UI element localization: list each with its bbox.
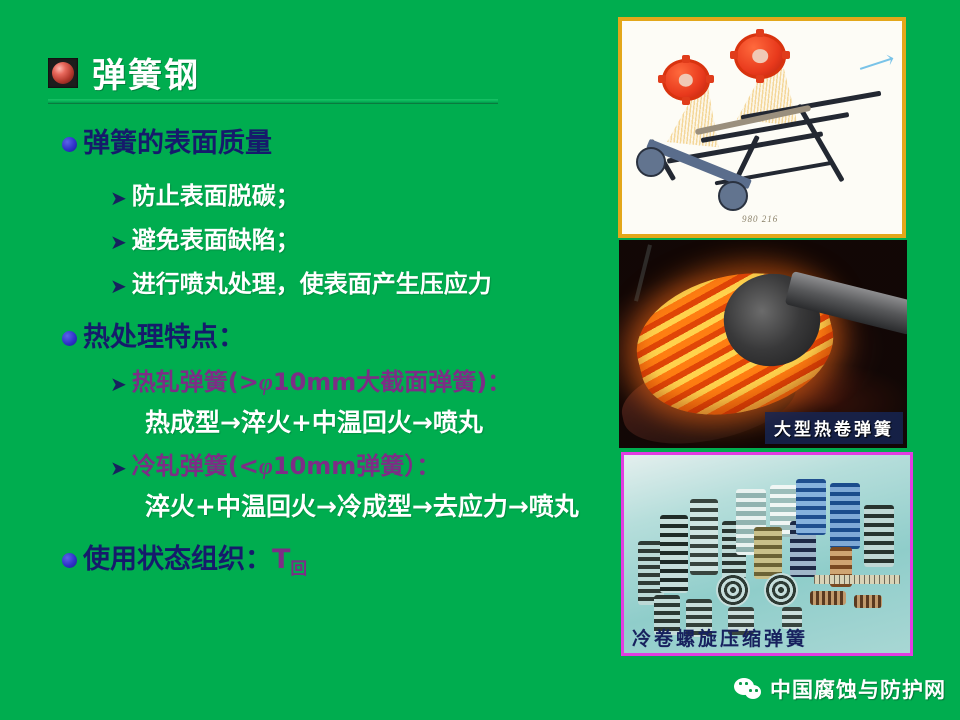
spring-item (716, 573, 750, 607)
list-item-label: 热轧弹簧(>φ10mm大截面弹簧)： (132, 368, 512, 398)
arrow-bullet-icon: ➤ (110, 185, 127, 212)
spring-item (810, 591, 846, 605)
label-pre: 冷轧弹簧(< (132, 452, 259, 480)
label-colon: ： (416, 452, 440, 480)
temper-symbol: T (272, 544, 290, 575)
slide-title-row: 弹簧钢 (48, 48, 200, 97)
blue-dot-bullet-icon (62, 137, 77, 152)
heading-text: 热处理特点： (83, 322, 245, 354)
drive-roller-right (718, 181, 748, 211)
spring-item (660, 515, 688, 593)
arrow-bullet-icon: ➤ (110, 455, 127, 482)
list-item-label: 避免表面缺陷； (132, 226, 300, 255)
blast-wheel-left (662, 59, 710, 101)
process-flow-cold: 淬火+中温回火→冷成型→去应力→喷丸 (145, 492, 610, 522)
arrow-bullet-icon: ➤ (110, 371, 127, 398)
spring-item (754, 527, 782, 579)
wechat-icon (734, 677, 763, 701)
spring-item (864, 505, 894, 567)
list-item-cold-rolled: ➤ 冷轧弹簧(<φ10mm弹簧）： (110, 452, 610, 482)
blast-wheel-right (734, 33, 786, 79)
watermark: 中国腐蚀与防护网 (734, 674, 946, 704)
phi-symbol: φ (259, 454, 273, 480)
temper-subscript: 回 (290, 558, 307, 578)
list-item-label: 冷轧弹簧(<φ10mm弹簧）： (132, 452, 441, 482)
section-heading-surface-quality: 弹簧的表面质量 (62, 128, 610, 160)
shot-peening-diagram: ⟶ 980 216 (618, 17, 906, 238)
content-body: 弹簧的表面质量 ➤ 防止表面脱碳； ➤ 避免表面缺陷； ➤ 进行喷丸处理，使表面… (0, 128, 610, 578)
figure-caption: 大型热卷弹簧 (765, 412, 903, 444)
arrow-bullet-icon: ➤ (110, 229, 127, 256)
watermark-label: 中国腐蚀与防护网 (770, 674, 946, 704)
figure-code-label: 980 216 (742, 214, 778, 224)
figure-caption: 冷卷螺旋压缩弹簧 (632, 624, 808, 651)
section-heading-service-structure: 使用状态组织：T回 (62, 544, 610, 579)
spring-item (854, 595, 882, 608)
label-post: 10mm弹簧） (273, 452, 416, 480)
spring-item (690, 499, 718, 575)
blue-dot-bullet-icon (62, 553, 77, 568)
section-heading-heat-treatment: 热处理特点： (62, 322, 610, 354)
list-item-hot-rolled: ➤ 热轧弹簧(>φ10mm大截面弹簧)： (110, 368, 610, 398)
cold-coiled-springs-photo: 冷卷螺旋压缩弹簧 (621, 452, 913, 656)
label-pre: 热轧弹簧(> (132, 368, 259, 396)
drive-roller-left (636, 147, 666, 177)
heading-text: 弹簧的表面质量 (83, 128, 272, 160)
red-sphere-bullet-icon (48, 58, 78, 88)
blue-dot-bullet-icon (62, 331, 77, 346)
hot-coiled-spring-photo: 大型热卷弹簧 (619, 240, 907, 448)
list-item: ➤ 避免表面缺陷； (110, 226, 610, 256)
list-item: ➤ 进行喷丸处理，使表面产生压应力 (110, 270, 610, 300)
figure-column: ⟶ 980 216 大型热卷弹簧 (616, 0, 960, 720)
label-post: 10mm大截面弹簧) (273, 368, 487, 396)
title-divider (48, 99, 498, 104)
label-colon: ： (487, 368, 511, 396)
spring-item (764, 573, 798, 607)
spring-item (796, 479, 826, 535)
page-title: 弹簧钢 (92, 48, 200, 97)
heading-text: 使用状态组织：T回 (83, 544, 307, 579)
phi-symbol: φ (259, 370, 273, 396)
arrow-bullet-icon: ➤ (110, 273, 127, 300)
ruler-scale (814, 575, 900, 584)
list-item: ➤ 防止表面脱碳； (110, 182, 610, 212)
list-item-label: 防止表面脱碳； (132, 182, 300, 211)
slide-canvas: 弹簧钢 弹簧的表面质量 ➤ 防止表面脱碳； ➤ 避免表面缺陷； ➤ 进行喷丸处理… (0, 0, 960, 720)
list-item-label: 进行喷丸处理，使表面产生压应力 (132, 270, 492, 299)
spring-item (830, 483, 860, 549)
process-flow-hot: 热成型→淬火+中温回火→喷丸 (145, 408, 610, 438)
heading-prefix: 使用状态组织： (83, 544, 272, 575)
